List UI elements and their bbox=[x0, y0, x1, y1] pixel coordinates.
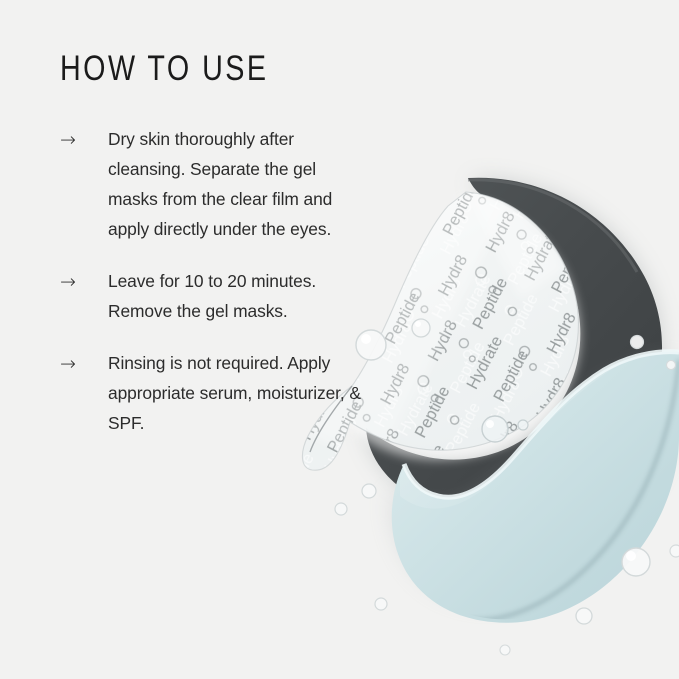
page-title: HOW TO USE bbox=[60, 49, 269, 89]
list-item: → Rinsing is not required. Apply appropr… bbox=[0, 348, 400, 438]
droplet bbox=[631, 336, 644, 349]
list-item: → Dry skin thoroughly after cleansing. S… bbox=[0, 124, 400, 244]
arrow-right-icon: → bbox=[60, 349, 90, 379]
charcoal-mask-shadow bbox=[364, 180, 661, 514]
arrow-right-icon: → bbox=[60, 125, 90, 155]
droplet bbox=[500, 645, 510, 655]
droplet bbox=[622, 548, 650, 576]
blue-gel-shadow bbox=[390, 360, 679, 603]
instructions-column: HOW TO USE → Dry skin thoroughly after c… bbox=[0, 0, 400, 679]
step-text: Leave for 10 to 20 minutes. Remove the g… bbox=[108, 266, 370, 326]
steps-list: → Dry skin thoroughly after cleansing. S… bbox=[0, 124, 400, 460]
how-to-use-panel: Peptide Hydr8 Hydr8 Peptide Hydrate bbox=[0, 0, 679, 679]
droplet bbox=[667, 361, 676, 370]
droplet bbox=[482, 416, 508, 442]
blue-gel-mask bbox=[392, 330, 679, 623]
list-item: → Leave for 10 to 20 minutes. Remove the… bbox=[0, 266, 400, 326]
droplet bbox=[412, 319, 430, 337]
arrow-right-icon: → bbox=[60, 267, 90, 297]
droplet bbox=[518, 420, 528, 430]
droplet bbox=[670, 545, 679, 557]
step-text: Dry skin thoroughly after cleansing. Sep… bbox=[108, 124, 370, 244]
charcoal-gel-mask bbox=[366, 178, 662, 517]
step-text: Rinsing is not required. Apply appropria… bbox=[108, 348, 370, 438]
droplet bbox=[576, 608, 592, 624]
